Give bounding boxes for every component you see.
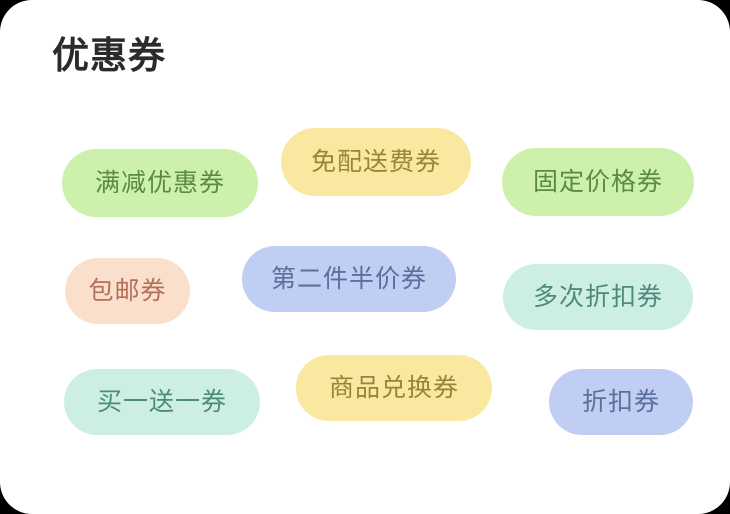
coupon-tag-second-item-half-price[interactable]: 第二件半价券 (242, 246, 456, 312)
coupon-tag-product-exchange[interactable]: 商品兑换券 (296, 355, 492, 421)
coupon-tag-free-shipping-fee[interactable]: 免配送费券 (281, 128, 471, 196)
coupon-tag-cloud: 满减优惠券 免配送费券 固定价格券 包邮券 第二件半价券 多次折扣券 买一送一券… (0, 0, 730, 514)
coupon-tag-full-reduction[interactable]: 满减优惠券 (62, 149, 258, 217)
coupon-tag-free-post[interactable]: 包邮券 (65, 258, 190, 324)
coupon-tag-buy-one-get-one[interactable]: 买一送一券 (64, 369, 260, 435)
coupon-tag-discount[interactable]: 折扣券 (549, 369, 693, 435)
coupon-card: 优惠券 满减优惠券 免配送费券 固定价格券 包邮券 第二件半价券 多次折扣券 买… (0, 0, 730, 514)
coupon-tag-fixed-price[interactable]: 固定价格券 (502, 148, 694, 216)
coupon-tag-multi-use-discount[interactable]: 多次折扣券 (503, 264, 693, 330)
